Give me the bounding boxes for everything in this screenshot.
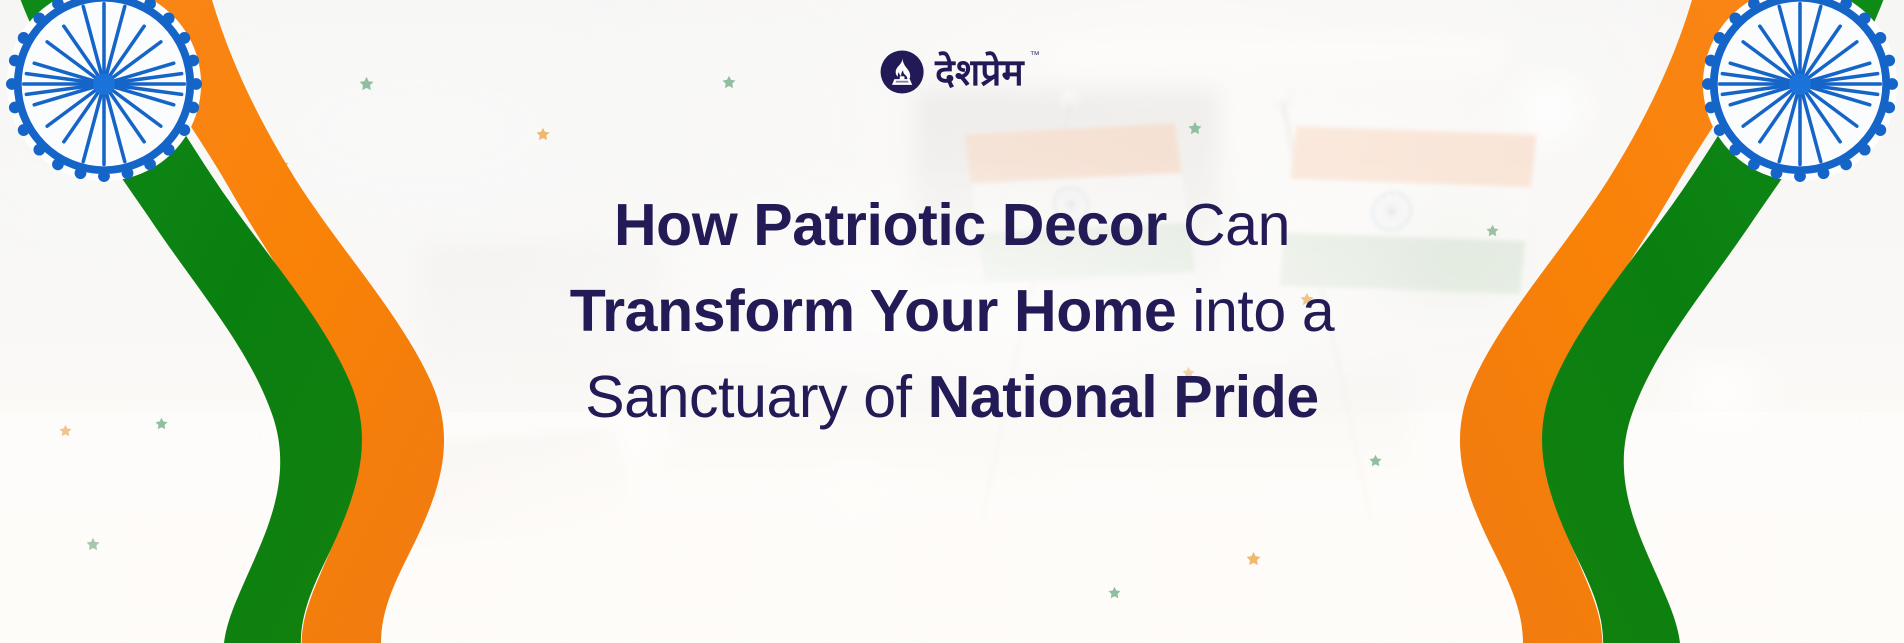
- headline-line-3-light: Sanctuary of: [585, 364, 927, 430]
- page-title: How Patriotic Decor Can Transform Your H…: [352, 182, 1552, 440]
- headline-line-3: Sanctuary of National Pride: [352, 354, 1552, 440]
- ashoka-chakra-icon-right: [1702, 0, 1898, 182]
- brand-logo[interactable]: देशप्रेम ™: [880, 50, 1024, 94]
- confetti-star-green: [1108, 586, 1121, 599]
- confetti-star-orange: [1246, 551, 1261, 566]
- brand-name-text: देशप्रेम: [935, 51, 1024, 94]
- confetti-star-orange: [536, 127, 550, 141]
- headline-line-2: Transform Your Home into a: [352, 268, 1552, 354]
- confetti-star-green: [722, 75, 736, 89]
- headline-line-1-bold: How Patriotic Decor: [614, 192, 1167, 258]
- confetti-star-green: [1369, 454, 1382, 467]
- flame-torch-icon: [880, 50, 924, 94]
- headline-line-2-bold: Transform Your Home: [570, 278, 1177, 344]
- trademark-symbol: ™: [1030, 51, 1040, 61]
- headline-line-1: How Patriotic Decor Can: [352, 182, 1552, 268]
- headline-line-3-bold: National Pride: [928, 364, 1319, 430]
- brand-name: देशप्रेम ™: [935, 54, 1024, 91]
- headline-line-1-light: Can: [1167, 192, 1290, 258]
- headline-line-2-light: into a: [1176, 278, 1334, 344]
- patriotic-decor-banner: देशप्रेम ™ How Patriotic Decor Can Trans…: [0, 0, 1904, 643]
- confetti-star-green: [1188, 121, 1202, 135]
- ashoka-chakra-icon-left: [6, 0, 202, 182]
